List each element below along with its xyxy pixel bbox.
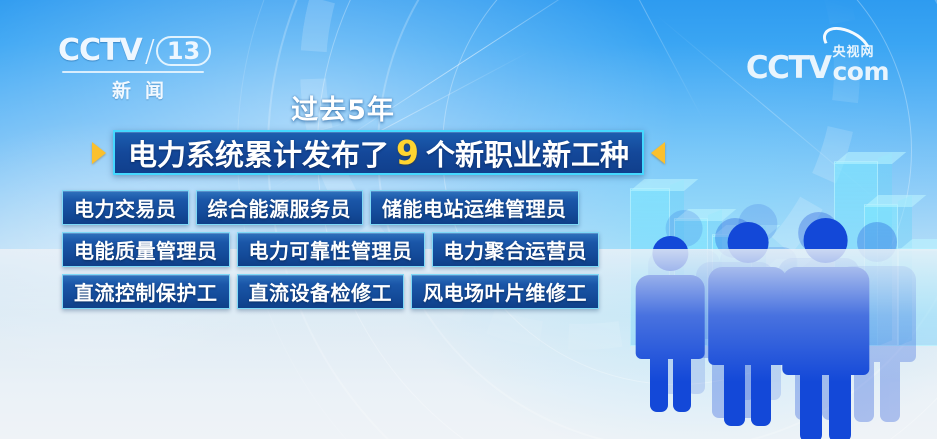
job-tag[interactable]: 电力聚合运营员 xyxy=(432,232,600,267)
logo-top-row: CCTV / 13 xyxy=(58,34,218,68)
logo-underline xyxy=(62,71,204,73)
job-tag[interactable]: 综合能源服务员 xyxy=(196,190,364,225)
watermark-com-text: com xyxy=(832,60,889,84)
chart-bar-top xyxy=(630,179,698,191)
job-tag[interactable]: 电能质量管理员 xyxy=(62,232,230,267)
headline-block: 电力系统累计发布了 9 个新职业新工种 xyxy=(92,130,665,175)
job-tag[interactable]: 风电场叶片维修工 xyxy=(411,274,599,309)
job-tag[interactable]: 直流控制保护工 xyxy=(62,274,230,309)
job-title-tag-list: 电力交易员综合能源服务员储能电站运维管理员电能质量管理员电力可靠性管理员电力聚合… xyxy=(62,190,599,316)
headline-subtitle: 过去5年 xyxy=(0,88,686,127)
chart-bar-top xyxy=(834,152,906,164)
arrow-left-icon xyxy=(651,142,665,164)
arrow-right-icon xyxy=(92,142,106,164)
job-tag[interactable]: 直流设备检修工 xyxy=(237,274,405,309)
headline-bar: 电力系统累计发布了 9 个新职业新工种 xyxy=(113,130,644,175)
job-tag-row: 直流控制保护工直流设备检修工风电场叶片维修工 xyxy=(62,274,599,309)
watermark-cctv-text: CCTV xyxy=(746,53,831,84)
job-tag-row: 电能质量管理员电力可靠性管理员电力聚合运营员 xyxy=(62,232,599,267)
logo-cctv-text: CCTV xyxy=(58,36,142,66)
job-tag[interactable]: 储能电站运维管理员 xyxy=(370,190,579,225)
logo-channel-number: 13 xyxy=(156,36,211,66)
job-tag-row: 电力交易员综合能源服务员储能电站运维管理员 xyxy=(62,190,599,225)
job-tag[interactable]: 电力交易员 xyxy=(62,190,189,225)
headline-trail-text: 个新职业新工种 xyxy=(426,132,629,174)
news-graphic-screen: CCTV / 13 新闻 CCTV 央视网 com 过去5年 电力系统累计发布了… xyxy=(0,0,937,439)
job-tag[interactable]: 电力可靠性管理员 xyxy=(237,232,425,267)
headline-lead-text: 电力系统累计发布了 xyxy=(128,132,389,174)
headline-number: 9 xyxy=(396,133,419,172)
logo-slash: / xyxy=(145,34,155,69)
